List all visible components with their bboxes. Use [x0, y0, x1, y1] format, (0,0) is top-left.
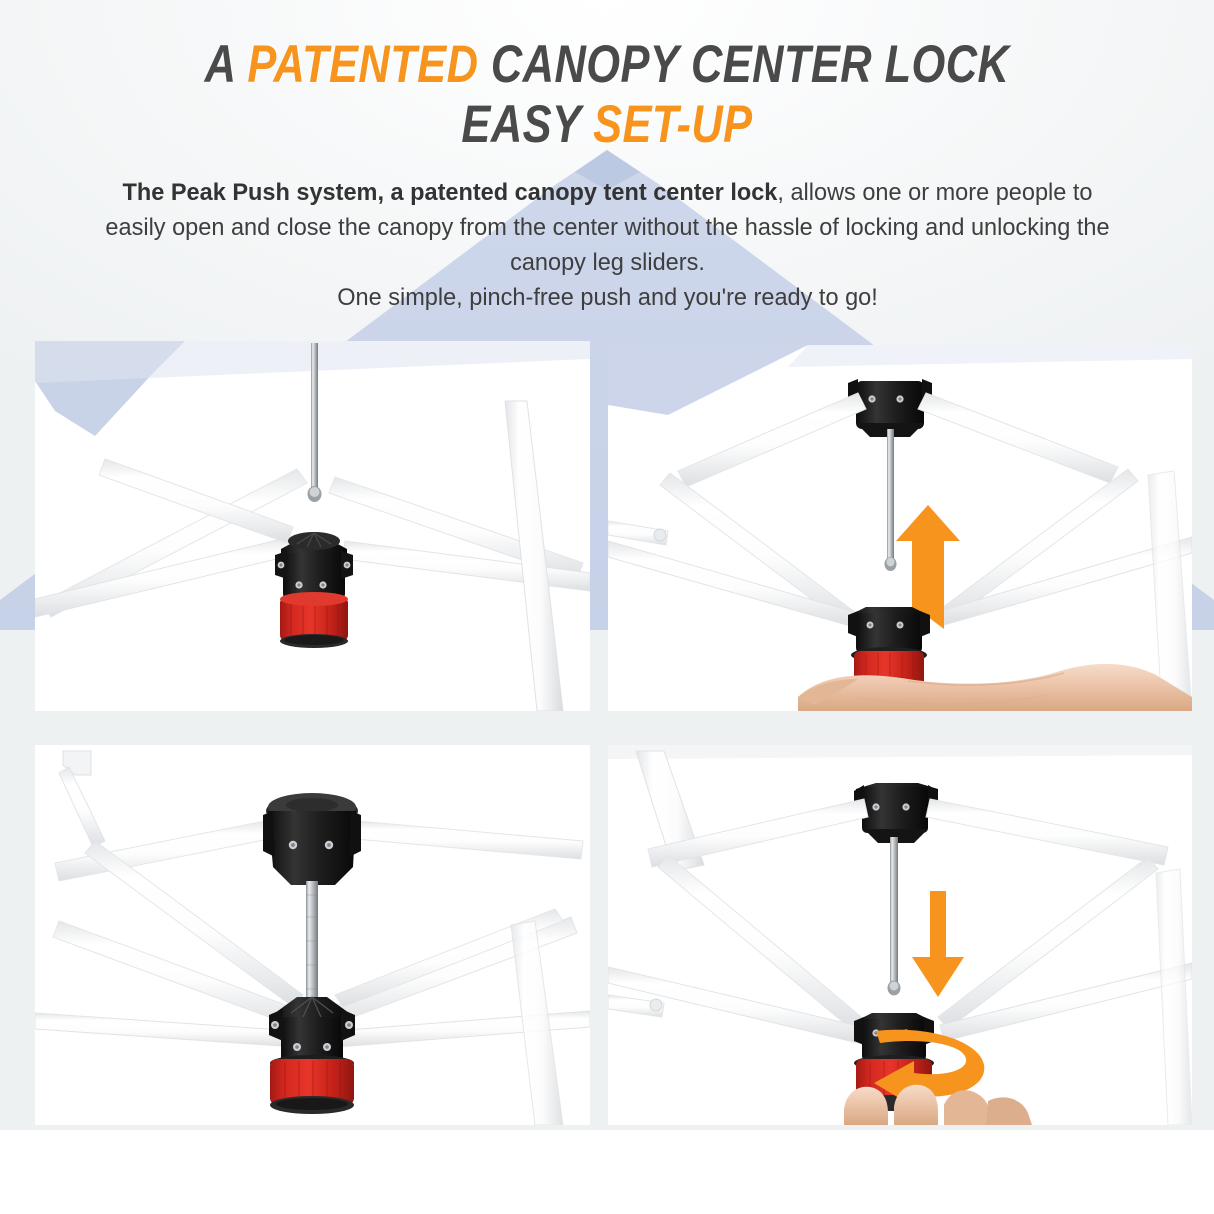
header: A PATENTED CANOPY CENTER LOCK EASY SET-U…: [0, 0, 1214, 151]
panel-bottom-right-image: [608, 745, 1192, 1125]
center-lock-hub: [269, 997, 355, 1114]
panel-bottom-right[interactable]: [608, 745, 1192, 1125]
panel-top-left[interactable]: [35, 341, 590, 711]
panel-top-left-image: [35, 341, 590, 711]
title-part-easy: EASY: [461, 95, 593, 154]
panel-bottom-left-image: [35, 745, 590, 1125]
panel-top-right[interactable]: [608, 345, 1192, 711]
upper-center-cap: [263, 793, 361, 885]
title-line-2: EASY SET-UP: [109, 98, 1104, 151]
bottom-white-area: [0, 1130, 1214, 1214]
panel-top-right-image: [608, 345, 1192, 711]
center-lock-hub: [275, 532, 353, 648]
panel-bottom-left[interactable]: [35, 745, 590, 1125]
intro-bold-lead: The Peak Push system, a patented canopy …: [122, 179, 777, 206]
title-part-b: CANOPY CENTER LOCK: [478, 35, 1009, 94]
title-accent-patented: PATENTED: [247, 35, 478, 94]
title-line-1: A PATENTED CANOPY CENTER LOCK: [109, 38, 1104, 91]
photo-grid: [0, 341, 1214, 1131]
title-accent-setup: SET-UP: [593, 95, 752, 154]
infographic-page: A PATENTED CANOPY CENTER LOCK EASY SET-U…: [0, 0, 1214, 1214]
chrome-push-rod-engaged: [306, 881, 318, 1009]
title-part-a: A: [205, 35, 248, 94]
intro-paragraph: The Peak Push system, a patented canopy …: [91, 175, 1123, 315]
intro-closing: One simple, pinch-free push and you're r…: [337, 284, 878, 311]
